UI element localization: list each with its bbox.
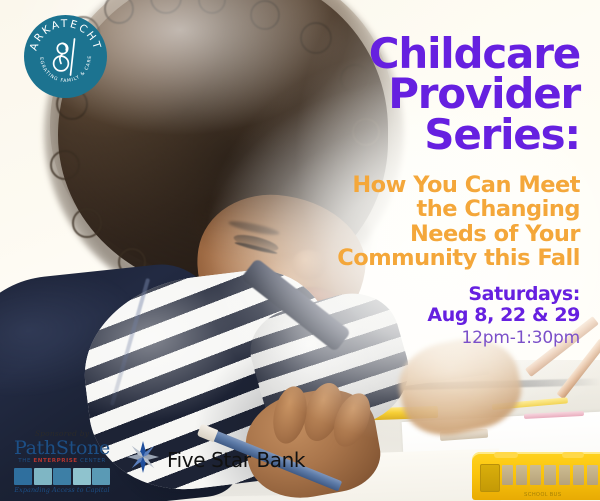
sponsor-strip: Sponsored by PathStone THE ENTERPRISE CE… [14, 430, 305, 494]
subhead-line-4: Community this Fall [314, 246, 580, 270]
bus-roof-hatch [562, 452, 584, 458]
toy-school-bus: SCHOOL BUS [472, 452, 600, 500]
five-star-bank-logo[interactable]: Five Star Bank [126, 440, 305, 479]
bus-windows [502, 465, 600, 485]
bus-door [480, 464, 500, 492]
pathstone-name: PathStone [14, 439, 110, 458]
headline-line-1: Childcare [314, 34, 580, 74]
headline-line-3: Series: [314, 115, 580, 155]
pathstone-tagline: Expanding Access to Capital [14, 487, 110, 493]
pathstone-bar-graphic [14, 468, 110, 485]
pathstone-subtitle-pre: THE [18, 458, 33, 464]
poster-copy: Childcare Provider Series: How You Can M… [314, 34, 580, 348]
schedule-dates: Aug 8, 22 & 29 [314, 305, 580, 326]
pathstone-subtitle: THE ENTERPRISE CENTER [14, 459, 110, 465]
hair-curl [72, 208, 102, 238]
arkatecht-monogram-icon [24, 35, 107, 79]
schedule-time: 12pm-1:30pm [314, 329, 580, 349]
event-schedule: Saturdays: Aug 8, 22 & 29 12pm-1:30pm [314, 284, 580, 348]
schedule-day: Saturdays: [314, 284, 580, 305]
hair-curl [50, 150, 80, 180]
five-star-burst-icon [126, 440, 160, 479]
page-title: Childcare Provider Series: [314, 34, 580, 155]
bus-roof-hatch [494, 452, 518, 458]
subhead-line-2: the Changing [314, 197, 580, 221]
arkatecht-logo[interactable]: ARKATECHT INTEGRATING FAMILY & CAREER [24, 15, 107, 98]
pathstone-subtitle-enterprise: ENTERPRISE [33, 458, 77, 464]
subtitle: How You Can Meet the Changing Needs of Y… [314, 173, 580, 270]
poster-canvas: SCHOOL BUS ARKATECHT INTEGRATING FAMILY … [0, 0, 600, 501]
five-star-bank-name: Five Star Bank [167, 448, 305, 472]
pathstone-logo[interactable]: Sponsored by PathStone THE ENTERPRISE CE… [14, 430, 110, 494]
pathstone-subtitle-post: CENTER [78, 458, 106, 464]
subhead-line-1: How You Can Meet [314, 173, 580, 197]
hair-curl [250, 0, 280, 30]
bus-label: SCHOOL BUS [524, 492, 562, 498]
subhead-line-3: Needs of Your [314, 222, 580, 246]
headline-line-2: Provider [314, 74, 580, 114]
sponsored-by-label: Sponsored by [14, 430, 110, 438]
